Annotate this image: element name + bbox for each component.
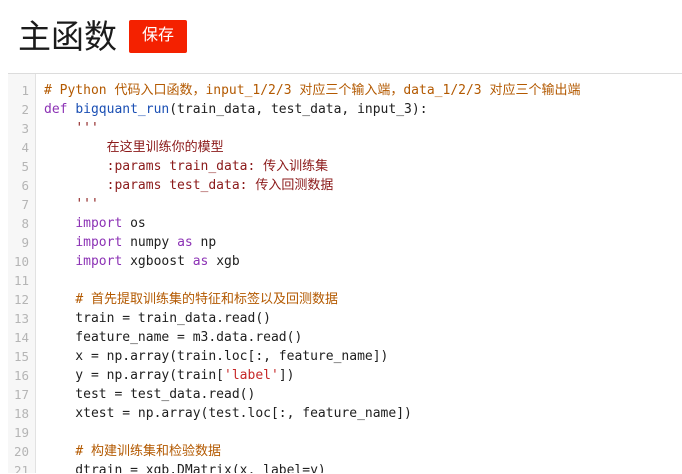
line-number: 19 — [8, 423, 35, 442]
code-token: dtrain = xgb.DMatrix(x, label=y) — [44, 463, 326, 473]
code-token: ''' — [75, 121, 98, 136]
page-header: 主函数 保存 — [0, 0, 682, 60]
code-token — [44, 292, 75, 307]
page-title: 主函数 — [18, 19, 117, 55]
code-token — [44, 444, 75, 459]
code-line[interactable]: :params train_data: 传入训练集 — [44, 157, 682, 176]
code-token: y = np.array(train[ — [44, 368, 224, 383]
code-line[interactable]: ''' — [44, 195, 682, 214]
line-number: 20 — [8, 442, 35, 461]
line-number: 9 — [8, 233, 35, 252]
code-token: :params test_data: 传入回测数据 — [44, 178, 333, 193]
code-token: import — [75, 216, 122, 231]
code-line[interactable]: import os — [44, 214, 682, 233]
code-token: xgb — [208, 254, 239, 269]
line-number: 7 — [8, 195, 35, 214]
code-token: bigquant_run — [75, 102, 169, 117]
code-token: # 构建训练集和检验数据 — [75, 444, 221, 459]
line-number: 21 — [8, 461, 35, 473]
line-number: 4 — [8, 138, 35, 157]
code-line[interactable]: y = np.array(train['label']) — [44, 366, 682, 385]
code-token: ''' — [75, 197, 98, 212]
line-number: 8 — [8, 214, 35, 233]
code-token: # Python 代码入口函数，input_1/2/3 对应三个输入端，data… — [44, 83, 580, 98]
line-number: 2 — [8, 100, 35, 119]
code-content[interactable]: # Python 代码入口函数，input_1/2/3 对应三个输入端，data… — [36, 74, 682, 473]
code-token: import — [75, 235, 122, 250]
code-token — [44, 121, 75, 136]
code-token: as — [177, 235, 193, 250]
line-number: 12 — [8, 290, 35, 309]
line-number: 18 — [8, 404, 35, 423]
line-number: 10 — [8, 252, 35, 271]
code-token: numpy — [122, 235, 177, 250]
code-token: ]) — [279, 368, 295, 383]
code-token: np — [193, 235, 216, 250]
line-number: 14 — [8, 328, 35, 347]
code-token: (train_data, test_data, input_3): — [169, 102, 427, 117]
code-line[interactable]: dtrain = xgb.DMatrix(x, label=y) — [44, 461, 682, 473]
line-number: 15 — [8, 347, 35, 366]
code-line[interactable] — [44, 271, 682, 290]
line-number: 3 — [8, 119, 35, 138]
code-line[interactable]: 在这里训练你的模型 — [44, 138, 682, 157]
code-line[interactable]: ''' — [44, 119, 682, 138]
main-function-editor-page: 主函数 保存 123456789101112131415161718192021… — [0, 0, 682, 473]
code-token: xtest = np.array(test.loc[:, feature_nam… — [44, 406, 412, 421]
code-editor[interactable]: 1234567891011121314151617181920212223 # … — [8, 73, 682, 473]
code-token — [44, 235, 75, 250]
code-token: import — [75, 254, 122, 269]
code-line[interactable]: xtest = np.array(test.loc[:, feature_nam… — [44, 404, 682, 423]
code-area[interactable]: 1234567891011121314151617181920212223 # … — [8, 74, 682, 473]
code-line[interactable]: train = train_data.read() — [44, 309, 682, 328]
code-token: 'label' — [224, 368, 279, 383]
line-number: 5 — [8, 157, 35, 176]
code-token: :params train_data: 传入训练集 — [44, 159, 328, 174]
code-line[interactable]: import xgboost as xgb — [44, 252, 682, 271]
code-token: def — [44, 102, 67, 117]
code-line[interactable]: def bigquant_run(train_data, test_data, … — [44, 100, 682, 119]
line-number: 1 — [8, 81, 35, 100]
code-line[interactable]: test = test_data.read() — [44, 385, 682, 404]
line-number-gutter: 1234567891011121314151617181920212223 — [8, 74, 36, 473]
code-token: x = np.array(train.loc[:, feature_name]) — [44, 349, 388, 364]
code-token — [44, 216, 75, 231]
code-token: # 首先提取训练集的特征和标签以及回测数据 — [75, 292, 338, 307]
code-token: os — [122, 216, 145, 231]
code-token: train = train_data.read() — [44, 311, 271, 326]
code-line[interactable]: # 首先提取训练集的特征和标签以及回测数据 — [44, 290, 682, 309]
code-line[interactable]: :params test_data: 传入回测数据 — [44, 176, 682, 195]
code-line[interactable]: # Python 代码入口函数，input_1/2/3 对应三个输入端，data… — [44, 81, 682, 100]
code-line[interactable]: import numpy as np — [44, 233, 682, 252]
line-number: 11 — [8, 271, 35, 290]
line-number: 13 — [8, 309, 35, 328]
code-line[interactable]: # 构建训练集和检验数据 — [44, 442, 682, 461]
code-line[interactable]: x = np.array(train.loc[:, feature_name]) — [44, 347, 682, 366]
line-number: 16 — [8, 366, 35, 385]
line-number: 6 — [8, 176, 35, 195]
save-button[interactable]: 保存 — [129, 20, 187, 53]
code-token: as — [193, 254, 209, 269]
code-line[interactable] — [44, 423, 682, 442]
code-line[interactable]: feature_name = m3.data.read() — [44, 328, 682, 347]
code-token — [44, 254, 75, 269]
code-token: xgboost — [122, 254, 192, 269]
line-number: 17 — [8, 385, 35, 404]
code-token: test = test_data.read() — [44, 387, 255, 402]
code-token — [44, 197, 75, 212]
code-token: feature_name = m3.data.read() — [44, 330, 302, 345]
code-token: 在这里训练你的模型 — [44, 140, 224, 155]
